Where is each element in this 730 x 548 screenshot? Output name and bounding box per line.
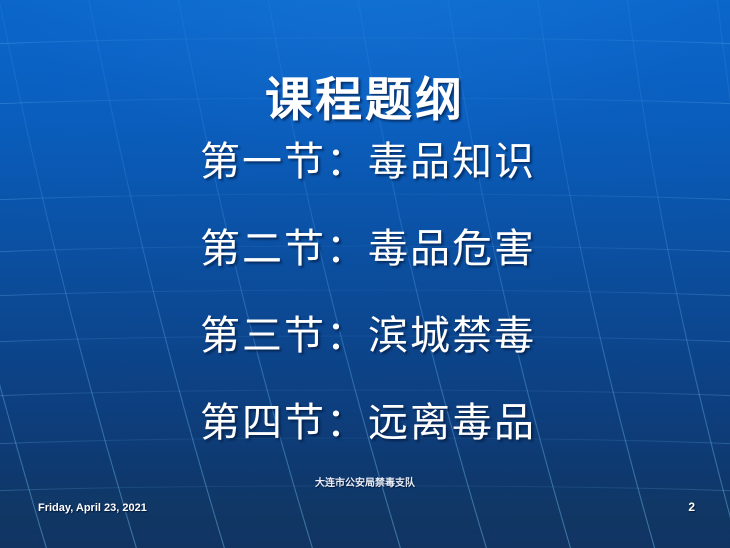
outline-item: 第二节：毒品危害 (0, 227, 730, 271)
footer-date: Friday, April 23, 2021 (38, 501, 147, 515)
outline-item: 第三节：滨城禁毒 (0, 314, 730, 358)
outline-list: 第一节：毒品知识 第二节：毒品危害 第三节：滨城禁毒 第四节：远离毒品 (0, 140, 730, 445)
outline-item: 第一节：毒品知识 (0, 140, 730, 184)
outline-item: 第四节：远离毒品 (0, 401, 730, 445)
slide-number: 2 (688, 500, 695, 515)
presentation-slide: 课程题纲 第一节：毒品知识 第二节：毒品危害 第三节：滨城禁毒 第四节：远离毒品… (0, 0, 730, 548)
footer-organization: 大连市公安局禁毒支队 (0, 477, 730, 490)
slide-title: 课程题纲 (0, 72, 730, 130)
